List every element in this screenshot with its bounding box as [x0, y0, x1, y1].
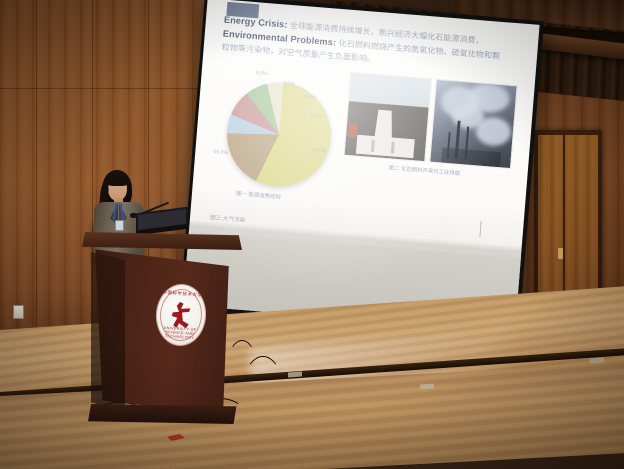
- pie-graphic: [223, 78, 335, 190]
- laptop-screen: [138, 209, 186, 230]
- slide-divider: [479, 221, 481, 237]
- lecture-hall-photo: Energy Crisis: 全球能源消费持续增长，新兴经济大幅化石能源消费， …: [0, 0, 624, 469]
- conference-badge: [115, 220, 124, 231]
- pie-label-4: 7.0%: [283, 81, 295, 88]
- energy-mix-pie-chart: 5.0% 7.0% 8.0% 6.0% 18.0% 56.0% 图一 能源消费结…: [211, 70, 349, 215]
- excavation-shape: [356, 108, 417, 158]
- slide-footer-left: 图三 大气污染: [210, 213, 246, 224]
- pie-label-0: 56.0%: [213, 149, 228, 156]
- floor-outlet-plate: [420, 384, 434, 390]
- pie-label-2: 6.0%: [310, 113, 322, 120]
- slide-logo-icon: [226, 2, 259, 19]
- podium-side-panel: [91, 252, 125, 412]
- wall-power-outlet: [13, 305, 24, 319]
- photo-industrial-emissions: [429, 79, 517, 169]
- pie-label-1: 18.0%: [312, 147, 327, 154]
- floor-outlet-plate: [288, 372, 302, 378]
- pie-label-3: 8.0%: [304, 94, 316, 101]
- floor-cable: [242, 356, 284, 428]
- door-handle[interactable]: [558, 248, 563, 259]
- chart-caption: 图一 能源消费结构: [236, 189, 281, 201]
- floor-outlet-plate: [590, 358, 604, 364]
- hair-front: [106, 174, 129, 186]
- slide-content: Energy Crisis: 全球能源消费持续增长，新兴经济大幅化石能源消费， …: [207, 14, 524, 255]
- photo-caption: 图二 化石燃料开采与工业排放: [388, 163, 460, 177]
- podium-top: [82, 232, 242, 250]
- photo-fossil-fuel-extraction: [343, 72, 431, 162]
- slide-photo-row: [343, 72, 517, 169]
- red-equipment: [348, 124, 358, 138]
- pie-label-5: 5.0%: [256, 70, 268, 77]
- podium: 中国科学技术大学 UNIVERSITY OF SCIENCE AND TECHN…: [82, 232, 242, 428]
- podium-base: [88, 404, 238, 424]
